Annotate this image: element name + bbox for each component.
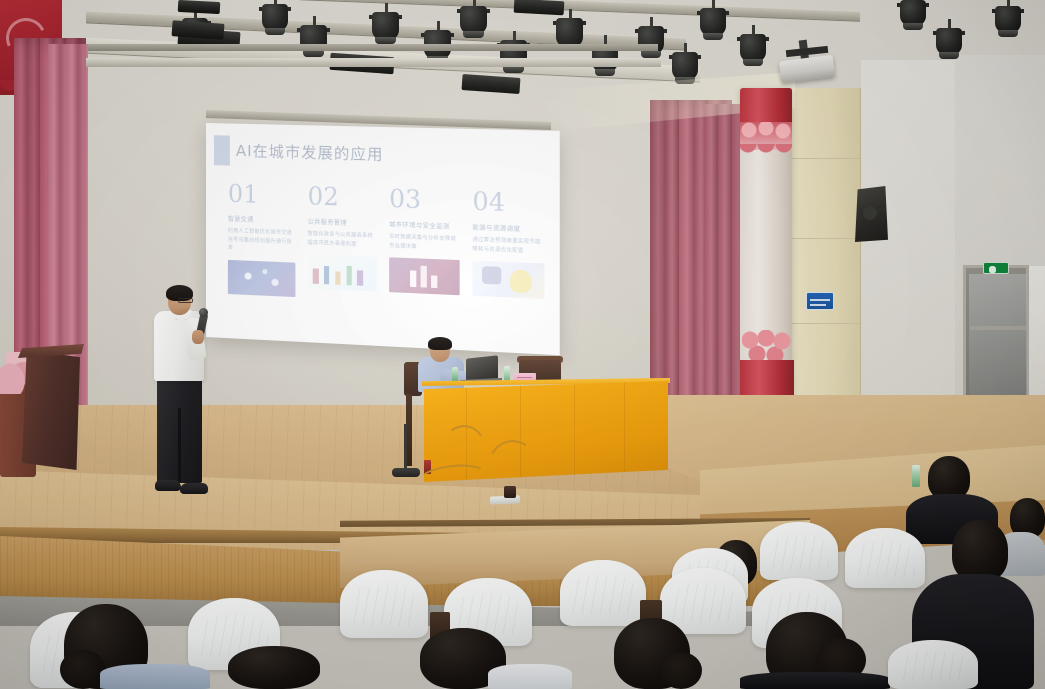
slide-column: 02 公共服务管理 智能化政务与公共服务系统提高市民办事便利度 [308,184,377,338]
stage-light-fixture [262,4,288,31]
slide-column-number: 03 [389,187,460,214]
audience-shoulders [100,664,210,689]
blue-wall-sign [806,292,834,310]
auditorium-scene: AI在城市发展的应用 01 智慧交通 利用人工智能优化城市交通信号与路线规划提升… [0,0,1045,689]
slide-column: 01 智慧交通 利用人工智能优化城市交通信号与路线规划提升通行效率 [228,182,296,334]
audience-chair [560,560,646,626]
stage-light-fixture [740,34,766,62]
slide-column-body: 实时数据采集与分析支撑城市治理决策 [389,233,460,253]
audience-chair [340,570,428,638]
glasses-icon [178,298,193,303]
door-push-bar[interactable] [970,326,1026,330]
curtain-rod [88,44,658,51]
presentation-slide: AI在城市发展的应用 01 智慧交通 利用人工智能优化城市交通信号与路线规划提升… [206,123,560,355]
projection-screen[interactable]: AI在城市发展的应用 01 智慧交通 利用人工智能优化城市交通信号与路线规划提升… [206,123,560,355]
wall-speaker [855,186,888,242]
stage-light-fixture [900,0,926,26]
podium [22,350,80,470]
stage-light-fixture [372,12,399,40]
column-top-band [740,88,792,124]
slide-column-heading: 公共服务管理 [308,217,377,229]
slide-column-number: 01 [228,182,296,208]
audience-shoulders [740,672,890,689]
stage-light-fixture [460,6,487,34]
slide-thumbnail-network [228,259,296,296]
wall-panel-right [786,88,861,418]
slide-columns: 01 智慧交通 利用人工智能优化城市交通信号与路线规划提升通行效率 02 公共服… [228,182,545,346]
slide-column-body: 利用人工智能优化城市交通信号与路线规划提升通行效率 [228,227,296,255]
water-bottle [452,367,458,383]
stage-bar-light [514,0,565,15]
presenter-leg-split [178,408,181,482]
presenter-shoe-right [180,483,208,494]
slide-column-number: 02 [308,184,377,211]
audience-head [228,646,320,689]
audience-chair [845,528,925,588]
slide-accent-bar [214,135,230,165]
audience-head [952,520,1008,582]
slide-column-heading: 城市环境与安全监测 [389,219,460,231]
slide-column-number: 04 [472,189,544,216]
slide-column-heading: 能源与资源调度 [472,222,544,234]
seated-person-hair [428,337,452,350]
speaker-cone [863,206,877,220]
slide-thumbnail-people [308,254,377,292]
slide-title: AI在城市发展的应用 [236,140,384,165]
audience-chair [888,640,978,689]
presenter-hand [192,330,204,344]
microphone-head-icon [199,308,208,317]
stage-light-fixture [556,18,583,47]
column-rose-scallop [740,144,792,160]
mic-stand-pole [404,424,407,470]
stage-light-fixture [672,52,698,80]
stage-light-fixture [995,6,1021,33]
curtain-track [86,58,661,67]
slide-column-body: 智能化政务与公共服务系统提高市民办事便利度 [308,230,377,250]
slide-thumbnail-energy [472,261,544,299]
water-bottle [912,465,920,487]
slide-column-body: 通过算法预测用量实现节能降耗与资源优化配置 [472,236,544,256]
floor-plug-block [504,486,516,498]
audience-hair-bun [660,652,702,689]
audience-chair [760,522,838,580]
stage-light-fixture [936,28,962,55]
mic-stand-base [392,468,420,477]
slide-column-heading: 智慧交通 [228,214,296,225]
slide-thumbnail-chart [389,257,460,295]
presenter-shoe-left [155,480,181,491]
exit-sign [983,262,1009,274]
slide-column: 04 能源与资源调度 通过算法预测用量实现节能降耗与资源优化配置 [472,189,544,346]
stage-light-fixture [700,8,726,36]
audience-shoulders [488,664,572,689]
column-flower-balls [742,330,792,364]
stage-curtain-right-inner [704,104,742,420]
slide-column: 03 城市环境与安全监测 实时数据采集与分析支撑城市治理决策 [389,187,460,342]
stage-bar-light [178,0,221,14]
